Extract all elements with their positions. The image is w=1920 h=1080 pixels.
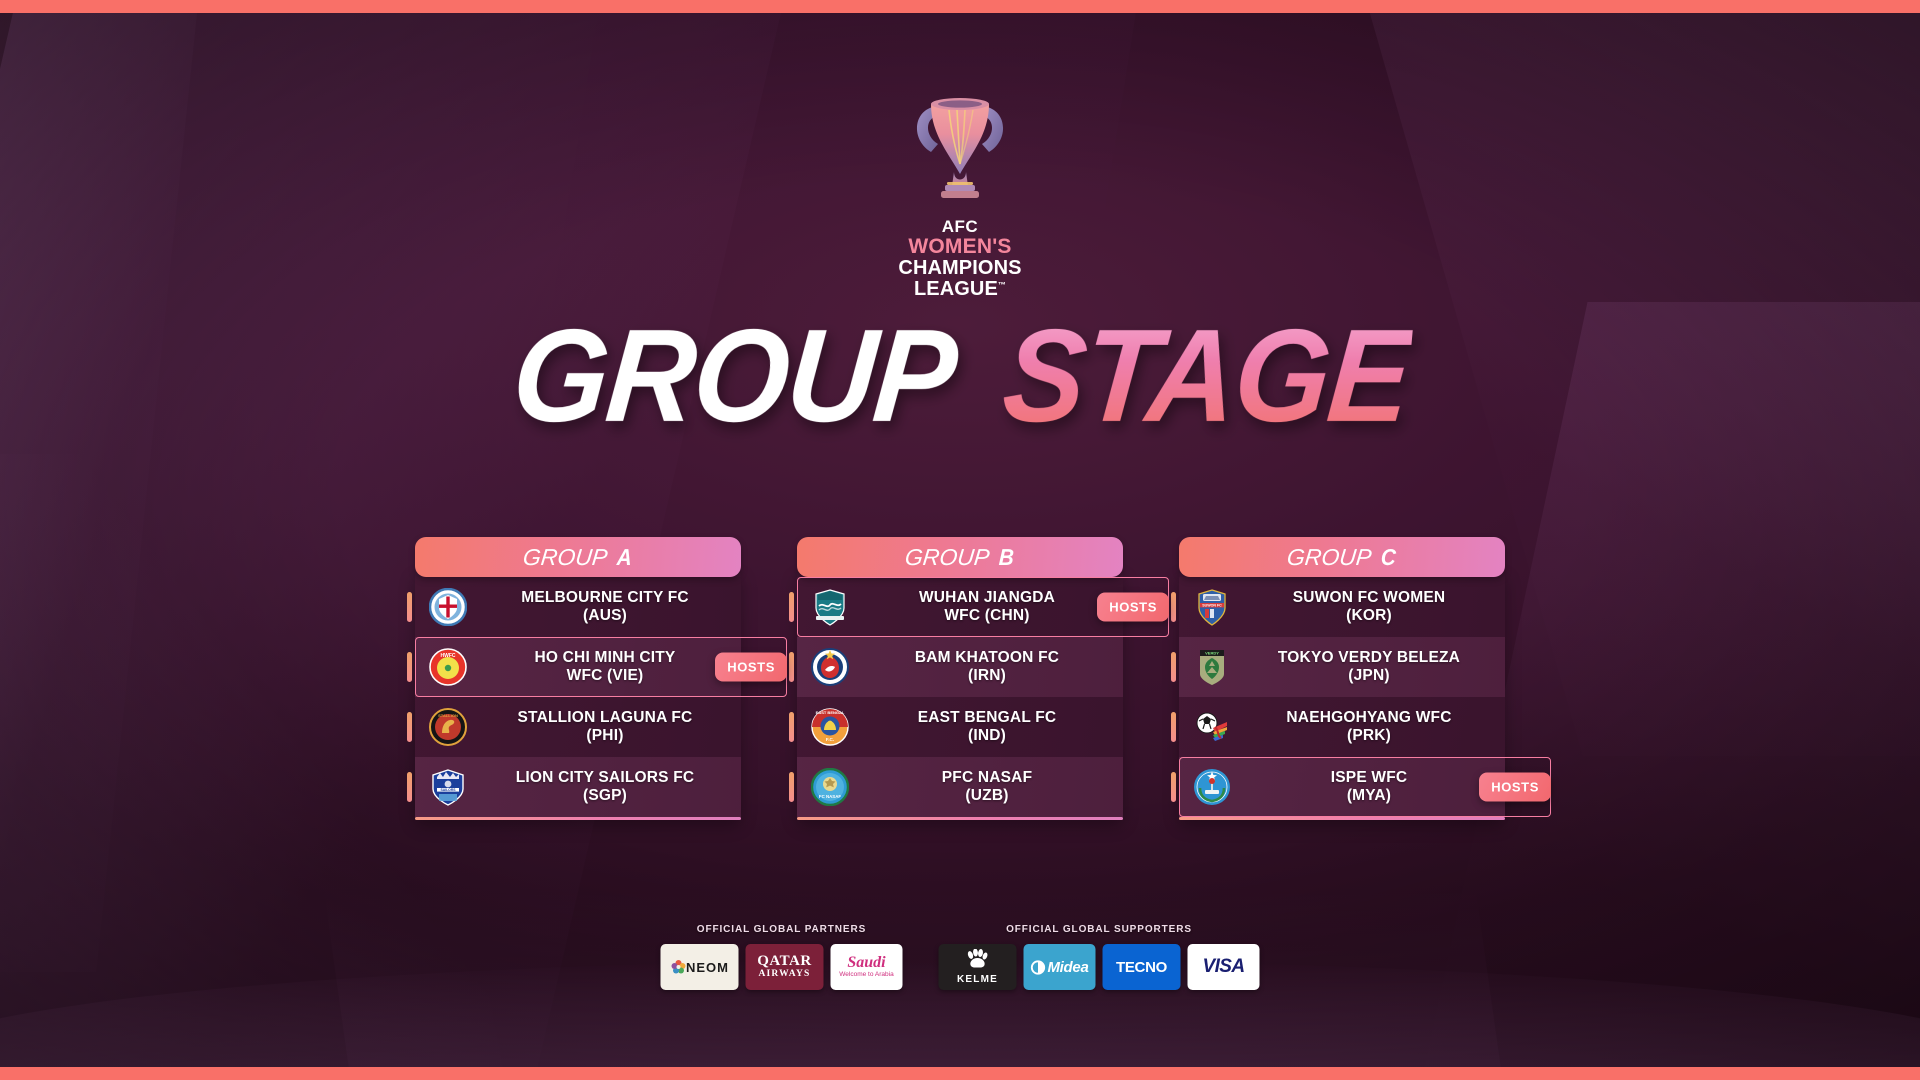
- bottom-accent-band: [0, 1067, 1920, 1080]
- team-name-line: SUWON FC WOMEN: [1237, 589, 1501, 607]
- team-row[interactable]: SUWON FCSUWON FC WOMEN(KOR): [1179, 577, 1505, 637]
- group-body: WUHAN JIANGDAWFC (CHN)HOSTSBAM KHATOON F…: [797, 573, 1123, 820]
- group-stage-cards: GROUPAMELBOURNE CITY FC(AUS)HWFCHO CHI M…: [415, 537, 1505, 820]
- row-accent-bar: [407, 592, 412, 622]
- svg-text:F.C.: F.C.: [826, 737, 834, 742]
- team-name-line: (IND): [855, 727, 1119, 745]
- team-name: LION CITY SAILORS FC(SGP): [473, 769, 741, 805]
- top-accent-band: [0, 0, 1920, 13]
- group-header-b: GROUPB: [797, 537, 1123, 577]
- team-name-line: STALLION LAGUNA FC: [473, 709, 737, 727]
- logo-line-league: LEAGUE™: [860, 279, 1060, 299]
- row-accent-bar: [407, 652, 412, 682]
- row-accent-bar: [1171, 772, 1176, 802]
- ho-chi-minh-city-wfc-crest-icon: HWFC: [429, 648, 467, 686]
- logo-wordmark: AFC WOMEN'S CHAMPIONS LEAGUE™: [860, 218, 1060, 299]
- svg-text:HWFC: HWFC: [441, 653, 456, 659]
- afc-womens-champions-league-trophy-icon: [905, 82, 1015, 212]
- team-name-line: NAEHGOHYANG WFC: [1237, 709, 1501, 727]
- row-accent-bar: [1171, 652, 1176, 682]
- partners-title: OFFICIAL GLOBAL PARTNERS: [697, 924, 866, 935]
- team-name-line: HO CHI MINH CITY: [473, 649, 737, 667]
- logo-line-champions: CHAMPIONS: [860, 258, 1060, 278]
- stallion-laguna-fc-crest-icon: STALLION: [429, 708, 467, 746]
- team-row[interactable]: ISPE WFC(MYA)HOSTS: [1179, 757, 1505, 817]
- team-name: TOKYO VERDY BELEZA(JPN): [1237, 649, 1505, 685]
- qatar-airways-logo-icon[interactable]: QATAR AIRWAYS: [746, 944, 824, 990]
- team-name: NAEHGOHYANG WFC(PRK): [1237, 709, 1505, 745]
- tecno-logo-icon[interactable]: TECNO: [1103, 944, 1181, 990]
- team-name-line: EAST BENGAL FC: [855, 709, 1119, 727]
- tecno-label: TECNO: [1116, 959, 1167, 976]
- team-name: SUWON FC WOMEN(KOR): [1237, 589, 1505, 625]
- team-name-line: BAM KHATOON FC: [855, 649, 1119, 667]
- team-name-line: WUHAN JIANGDA: [855, 589, 1119, 607]
- team-row[interactable]: MELBOURNE CITY FC(AUS): [415, 577, 741, 637]
- team-row[interactable]: VERDYTOKYO VERDY BELEZA(JPN): [1179, 637, 1505, 697]
- tokyo-verdy-beleza-crest-icon: VERDY: [1193, 648, 1231, 686]
- team-name: MELBOURNE CITY FC(AUS): [473, 589, 741, 625]
- team-row[interactable]: NAEHGOHYANG WFC(PRK): [1179, 697, 1505, 757]
- status-badge-hosts: HOSTS: [715, 653, 787, 682]
- team-name-line: (MYA): [1237, 787, 1501, 805]
- suwon-fc-women-crest-icon: SUWON FC: [1193, 588, 1231, 626]
- team-row[interactable]: EAST BENGALF.C.EAST BENGAL FC(IND): [797, 697, 1123, 757]
- group-card-b: GROUPBWUHAN JIANGDAWFC (CHN)HOSTSBAM KHA…: [797, 537, 1123, 820]
- team-name-line: (JPN): [1237, 667, 1501, 685]
- group-header-letter: A: [616, 544, 632, 571]
- midea-logo-icon[interactable]: Midea: [1024, 944, 1096, 990]
- visa-logo-icon[interactable]: VISA: [1188, 944, 1260, 990]
- status-badge-hosts: HOSTS: [1097, 593, 1169, 622]
- neom-logo-icon[interactable]: NEOM: [661, 944, 739, 990]
- group-header-letter: C: [1380, 544, 1396, 571]
- group-card-a: GROUPAMELBOURNE CITY FC(AUS)HWFCHO CHI M…: [415, 537, 741, 820]
- team-name-line: TOKYO VERDY BELEZA: [1237, 649, 1501, 667]
- row-accent-bar: [789, 712, 794, 742]
- kelme-label: KELME: [957, 974, 998, 985]
- team-row[interactable]: STALLIONSTALLION LAGUNA FC(PHI): [415, 697, 741, 757]
- group-header-text: GROUPC: [1287, 544, 1397, 571]
- sponsor-bar: OFFICIAL GLOBAL PARTNERS NEOM QATAR AIRW…: [661, 924, 1260, 990]
- team-row[interactable]: SAILORSLION CITY SAILORS FC(SGP): [415, 757, 741, 817]
- row-accent-bar: [1171, 592, 1176, 622]
- team-name-line: (UZB): [855, 787, 1119, 805]
- ispe-wfc-crest-icon: [1193, 768, 1231, 806]
- wuhan-jiangda-wfc-crest-icon: [811, 588, 849, 626]
- page-title-group: GROUP: [507, 310, 959, 442]
- row-accent-bar: [789, 592, 794, 622]
- row-accent-bar: [789, 652, 794, 682]
- midea-label: Midea: [1047, 959, 1088, 976]
- kelme-paw-icon: [966, 949, 990, 969]
- logo-line-afc: AFC: [860, 218, 1060, 235]
- hosts-badge-wrapper: HOSTS: [1097, 593, 1169, 622]
- team-name-line: (SGP): [473, 787, 737, 805]
- team-name: ISPE WFC(MYA): [1237, 769, 1505, 805]
- svg-text:STALLION: STALLION: [438, 713, 458, 718]
- team-row[interactable]: FC NASAFPFC NASAF(UZB): [797, 757, 1123, 817]
- team-name-line: (IRN): [855, 667, 1119, 685]
- team-name: WUHAN JIANGDAWFC (CHN): [855, 589, 1123, 625]
- group-header-text: GROUPA: [523, 544, 633, 571]
- team-name: BAM KHATOON FC(IRN): [855, 649, 1123, 685]
- group-header-word: GROUP: [1286, 544, 1373, 571]
- group-underline: [415, 817, 741, 820]
- svg-text:SUWON FC: SUWON FC: [1202, 603, 1222, 607]
- supporters-title: OFFICIAL GLOBAL SUPPORTERS: [1006, 924, 1192, 935]
- saudi-welcome-to-arabia-logo-icon[interactable]: Saudi Welcome to Arabia: [831, 944, 903, 990]
- team-name-line: (PHI): [473, 727, 737, 745]
- team-row[interactable]: WUHAN JIANGDAWFC (CHN)HOSTS: [797, 577, 1123, 637]
- naehgohyang-wfc-crest-icon: [1193, 708, 1231, 746]
- team-name-line: WFC (CHN): [855, 607, 1119, 625]
- team-name: EAST BENGAL FC(IND): [855, 709, 1123, 745]
- svg-text:FC NASAF: FC NASAF: [819, 794, 842, 799]
- team-name-line: ISPE WFC: [1237, 769, 1501, 787]
- svg-text:EAST BENGAL: EAST BENGAL: [816, 710, 845, 715]
- midea-mark-icon: [1030, 960, 1045, 975]
- status-badge-hosts: HOSTS: [1479, 773, 1551, 802]
- supporters-logos: KELME Midea TECNO VISA: [939, 944, 1260, 990]
- team-name-line: (AUS): [473, 607, 737, 625]
- team-name: STALLION LAGUNA FC(PHI): [473, 709, 741, 745]
- group-header-a: GROUPA: [415, 537, 741, 577]
- team-row[interactable]: HWFCHO CHI MINH CITYWFC (VIE)HOSTS: [415, 637, 741, 697]
- group-underline: [1179, 817, 1505, 820]
- bam-khatoon-fc-crest-icon: [811, 648, 849, 686]
- team-name: HO CHI MINH CITYWFC (VIE): [473, 649, 741, 685]
- page-title: GROUPSTAGE: [0, 310, 1920, 442]
- saudi-label: Saudi: [839, 955, 893, 971]
- east-bengal-fc-crest-icon: EAST BENGALF.C.: [811, 708, 849, 746]
- kelme-logo-icon[interactable]: KELME: [939, 944, 1017, 990]
- group-header-letter: B: [998, 544, 1014, 571]
- neom-label: NEOM: [686, 960, 729, 975]
- official-global-supporters: OFFICIAL GLOBAL SUPPORTERS KELME: [939, 924, 1260, 990]
- group-header-c: GROUPC: [1179, 537, 1505, 577]
- team-name-line: WFC (VIE): [473, 667, 737, 685]
- trademark-symbol: ™: [998, 280, 1006, 289]
- logo-line-womens: WOMEN'S: [860, 236, 1060, 257]
- team-name: PFC NASAF(UZB): [855, 769, 1123, 805]
- pfc-nasaf-crest-icon: FC NASAF: [811, 768, 849, 806]
- logo-league-text: LEAGUE: [914, 278, 998, 300]
- airways-label: AIRWAYS: [757, 969, 811, 980]
- hosts-badge-wrapper: HOSTS: [715, 653, 787, 682]
- partners-logos: NEOM QATAR AIRWAYS Saudi Welcome to Arab…: [661, 944, 903, 990]
- hosts-badge-wrapper: HOSTS: [1479, 773, 1551, 802]
- group-header-text: GROUPB: [905, 544, 1015, 571]
- svg-text:VERDY: VERDY: [1205, 651, 1219, 656]
- group-body: SUWON FCSUWON FC WOMEN(KOR)VERDYTOKYO VE…: [1179, 573, 1505, 820]
- group-card-c: GROUPCSUWON FCSUWON FC WOMEN(KOR)VERDYTO…: [1179, 537, 1505, 820]
- row-accent-bar: [407, 772, 412, 802]
- row-accent-bar: [1171, 712, 1176, 742]
- competition-logo: AFC WOMEN'S CHAMPIONS LEAGUE™: [860, 82, 1060, 299]
- group-body: MELBOURNE CITY FC(AUS)HWFCHO CHI MINH CI…: [415, 573, 741, 820]
- row-accent-bar: [407, 712, 412, 742]
- team-name-line: LION CITY SAILORS FC: [473, 769, 737, 787]
- melbourne-city-fc-crest-icon: [429, 588, 467, 626]
- visa-label: VISA: [1203, 956, 1245, 978]
- lion-city-sailors-fc-crest-icon: SAILORS: [429, 768, 467, 806]
- row-accent-bar: [789, 772, 794, 802]
- group-underline: [797, 817, 1123, 820]
- group-header-word: GROUP: [522, 544, 609, 571]
- qatar-label: QATAR: [757, 954, 811, 969]
- team-row[interactable]: BAM KHATOON FC(IRN): [797, 637, 1123, 697]
- page-title-stage: STAGE: [998, 310, 1414, 442]
- official-global-partners: OFFICIAL GLOBAL PARTNERS NEOM QATAR AIRW…: [661, 924, 903, 990]
- team-name-line: MELBOURNE CITY FC: [473, 589, 737, 607]
- team-name-line: (KOR): [1237, 607, 1501, 625]
- saudi-tagline: Welcome to Arabia: [839, 971, 893, 979]
- neom-flower-icon: [670, 959, 686, 975]
- svg-text:SAILORS: SAILORS: [440, 788, 456, 792]
- team-name-line: PFC NASAF: [855, 769, 1119, 787]
- group-header-word: GROUP: [904, 544, 991, 571]
- team-name-line: (PRK): [1237, 727, 1501, 745]
